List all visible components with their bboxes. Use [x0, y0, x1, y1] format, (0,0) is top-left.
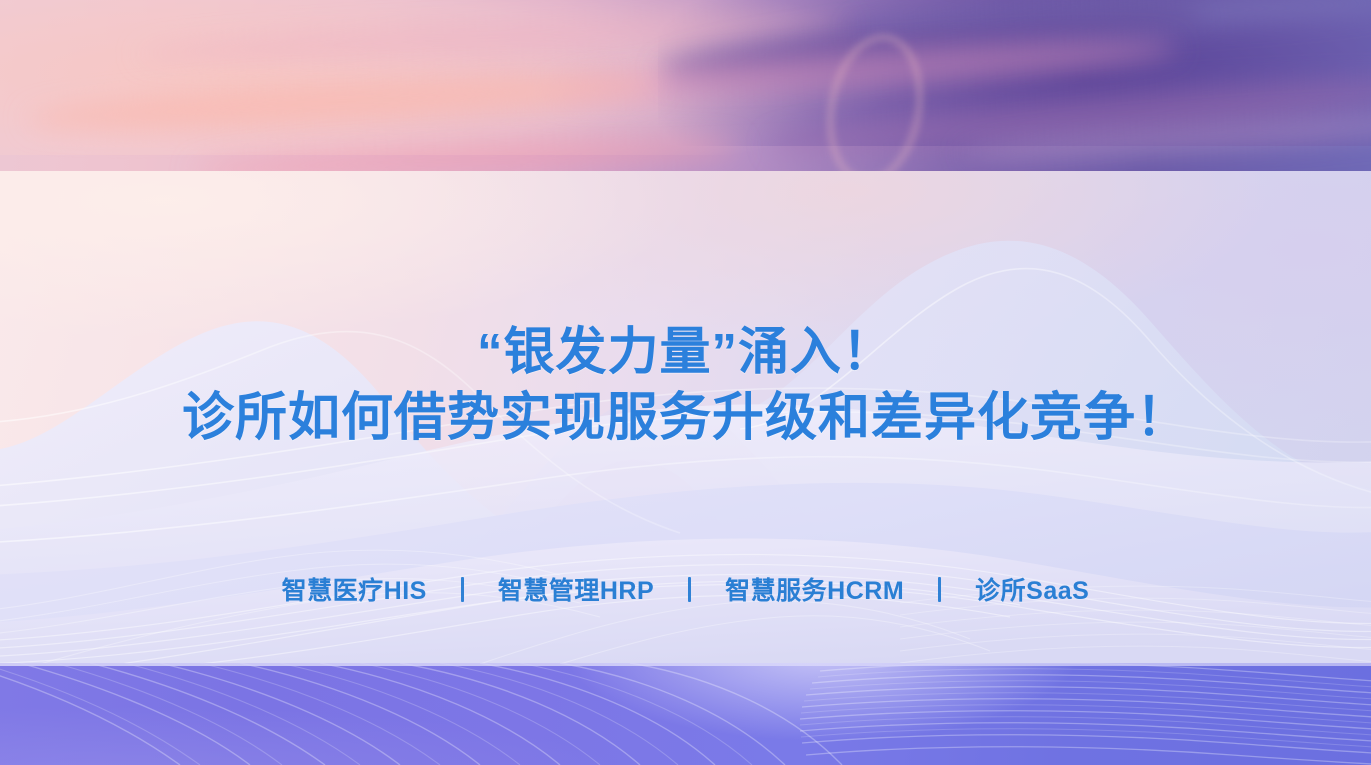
tagline-separator — [688, 577, 691, 602]
tagline-row: 智慧医疗HIS 智慧管理HRP 智慧服务HCRM 诊所SaaS — [0, 571, 1371, 607]
tagline-item-hcrm: 智慧服务HCRM — [725, 571, 904, 607]
tagline-item-his: 智慧医疗HIS — [282, 571, 427, 607]
banner-root: “银发力量”涌入！ 诊所如何借势实现服务升级和差异化竞争！ 智慧医疗HIS 智慧… — [0, 0, 1371, 765]
tagline-separator — [938, 577, 941, 602]
bottom-ripple-band — [0, 663, 1371, 765]
tagline-item-hrp: 智慧管理HRP — [498, 571, 654, 607]
sky-background — [0, 0, 1371, 172]
tagline-item-saas: 诊所SaaS — [975, 571, 1089, 607]
band-top-highlight — [0, 663, 1371, 666]
tagline-separator — [461, 577, 464, 602]
